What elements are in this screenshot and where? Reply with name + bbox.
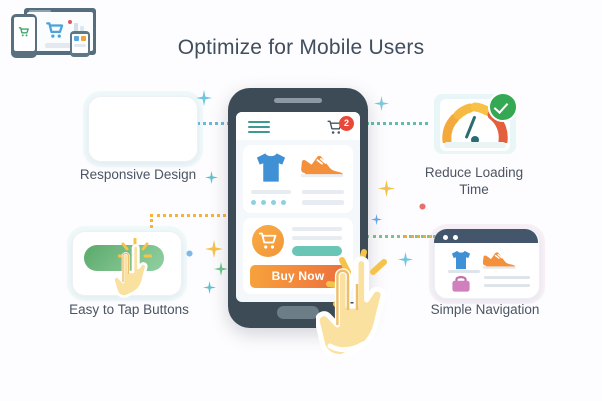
feature-label-simple-navigation: Simple Navigation: [404, 301, 566, 318]
pointing-hand-cursor-large: [316, 250, 412, 358]
connector-bottom-left: [150, 214, 232, 217]
feature-label-easy-to-tap-buttons: Easy to Tap Buttons: [48, 301, 210, 318]
cart-icon-green: [18, 27, 30, 37]
feature-card-reduce-loading-time[interactable]: [432, 90, 518, 156]
placeholder-line: [292, 236, 342, 240]
desktop-titlebar: [29, 10, 51, 12]
phone-speaker: [274, 98, 322, 103]
card-halo: [83, 91, 203, 167]
phone-home-button[interactable]: [277, 306, 319, 319]
sneaker-icon: [300, 154, 344, 179]
placeholder-line: [484, 284, 530, 287]
tablet-tile: [81, 36, 86, 41]
cart-icon-blue: [45, 22, 65, 39]
sparkle-icon: [374, 96, 389, 111]
feature-label-reduce-loading-time: Reduce Loading Time: [398, 164, 550, 198]
placeholder-line: [292, 227, 342, 231]
placeholder-line: [251, 190, 291, 194]
carousel-dot[interactable]: [271, 200, 276, 205]
sneaker-icon: [482, 251, 516, 270]
cart-badge: 2: [339, 116, 354, 131]
browser-dot: [453, 235, 458, 240]
browser-dot: [443, 235, 448, 240]
sparkle-icon: [186, 250, 193, 257]
handbag-icon: [450, 274, 472, 293]
pointing-hand-cursor-small: [112, 242, 162, 298]
carousel-dot[interactable]: [281, 200, 286, 205]
placeholder-line: [302, 200, 344, 205]
placeholder-line: [448, 270, 480, 273]
placeholder-line: [484, 276, 530, 279]
placeholder-line: [302, 190, 344, 194]
check-circle-icon: [488, 92, 518, 122]
connector-bottom-right-tail: [404, 235, 438, 238]
browser-titlebar: [434, 229, 538, 243]
carousel-dot[interactable]: [251, 200, 256, 205]
placeholder-block: [68, 20, 72, 24]
gauge-base: [444, 142, 506, 148]
feature-card-responsive-design[interactable]: [88, 96, 198, 162]
sparkle-icon: [203, 281, 216, 294]
tshirt-icon: [450, 250, 472, 270]
sparkle-icon: [419, 203, 426, 210]
sparkle-icon: [371, 214, 382, 225]
hamburger-menu-icon[interactable]: [248, 121, 270, 132]
infographic-canvas: Optimize for Mobile Users Responsive Des…: [0, 0, 602, 401]
sparkle-icon: [196, 90, 212, 106]
carousel-dot[interactable]: [261, 200, 266, 205]
sparkle-icon: [214, 262, 228, 276]
tablet-tile: [74, 36, 79, 41]
sparkle-icon: [378, 180, 395, 197]
sparkle-icon: [205, 240, 223, 258]
feature-label-responsive-design: Responsive Design: [58, 166, 218, 183]
placeholder-line: [74, 44, 86, 47]
tshirt-icon: [254, 152, 288, 183]
cart-icon-white: [259, 232, 277, 250]
connector-top-right: [366, 122, 428, 125]
